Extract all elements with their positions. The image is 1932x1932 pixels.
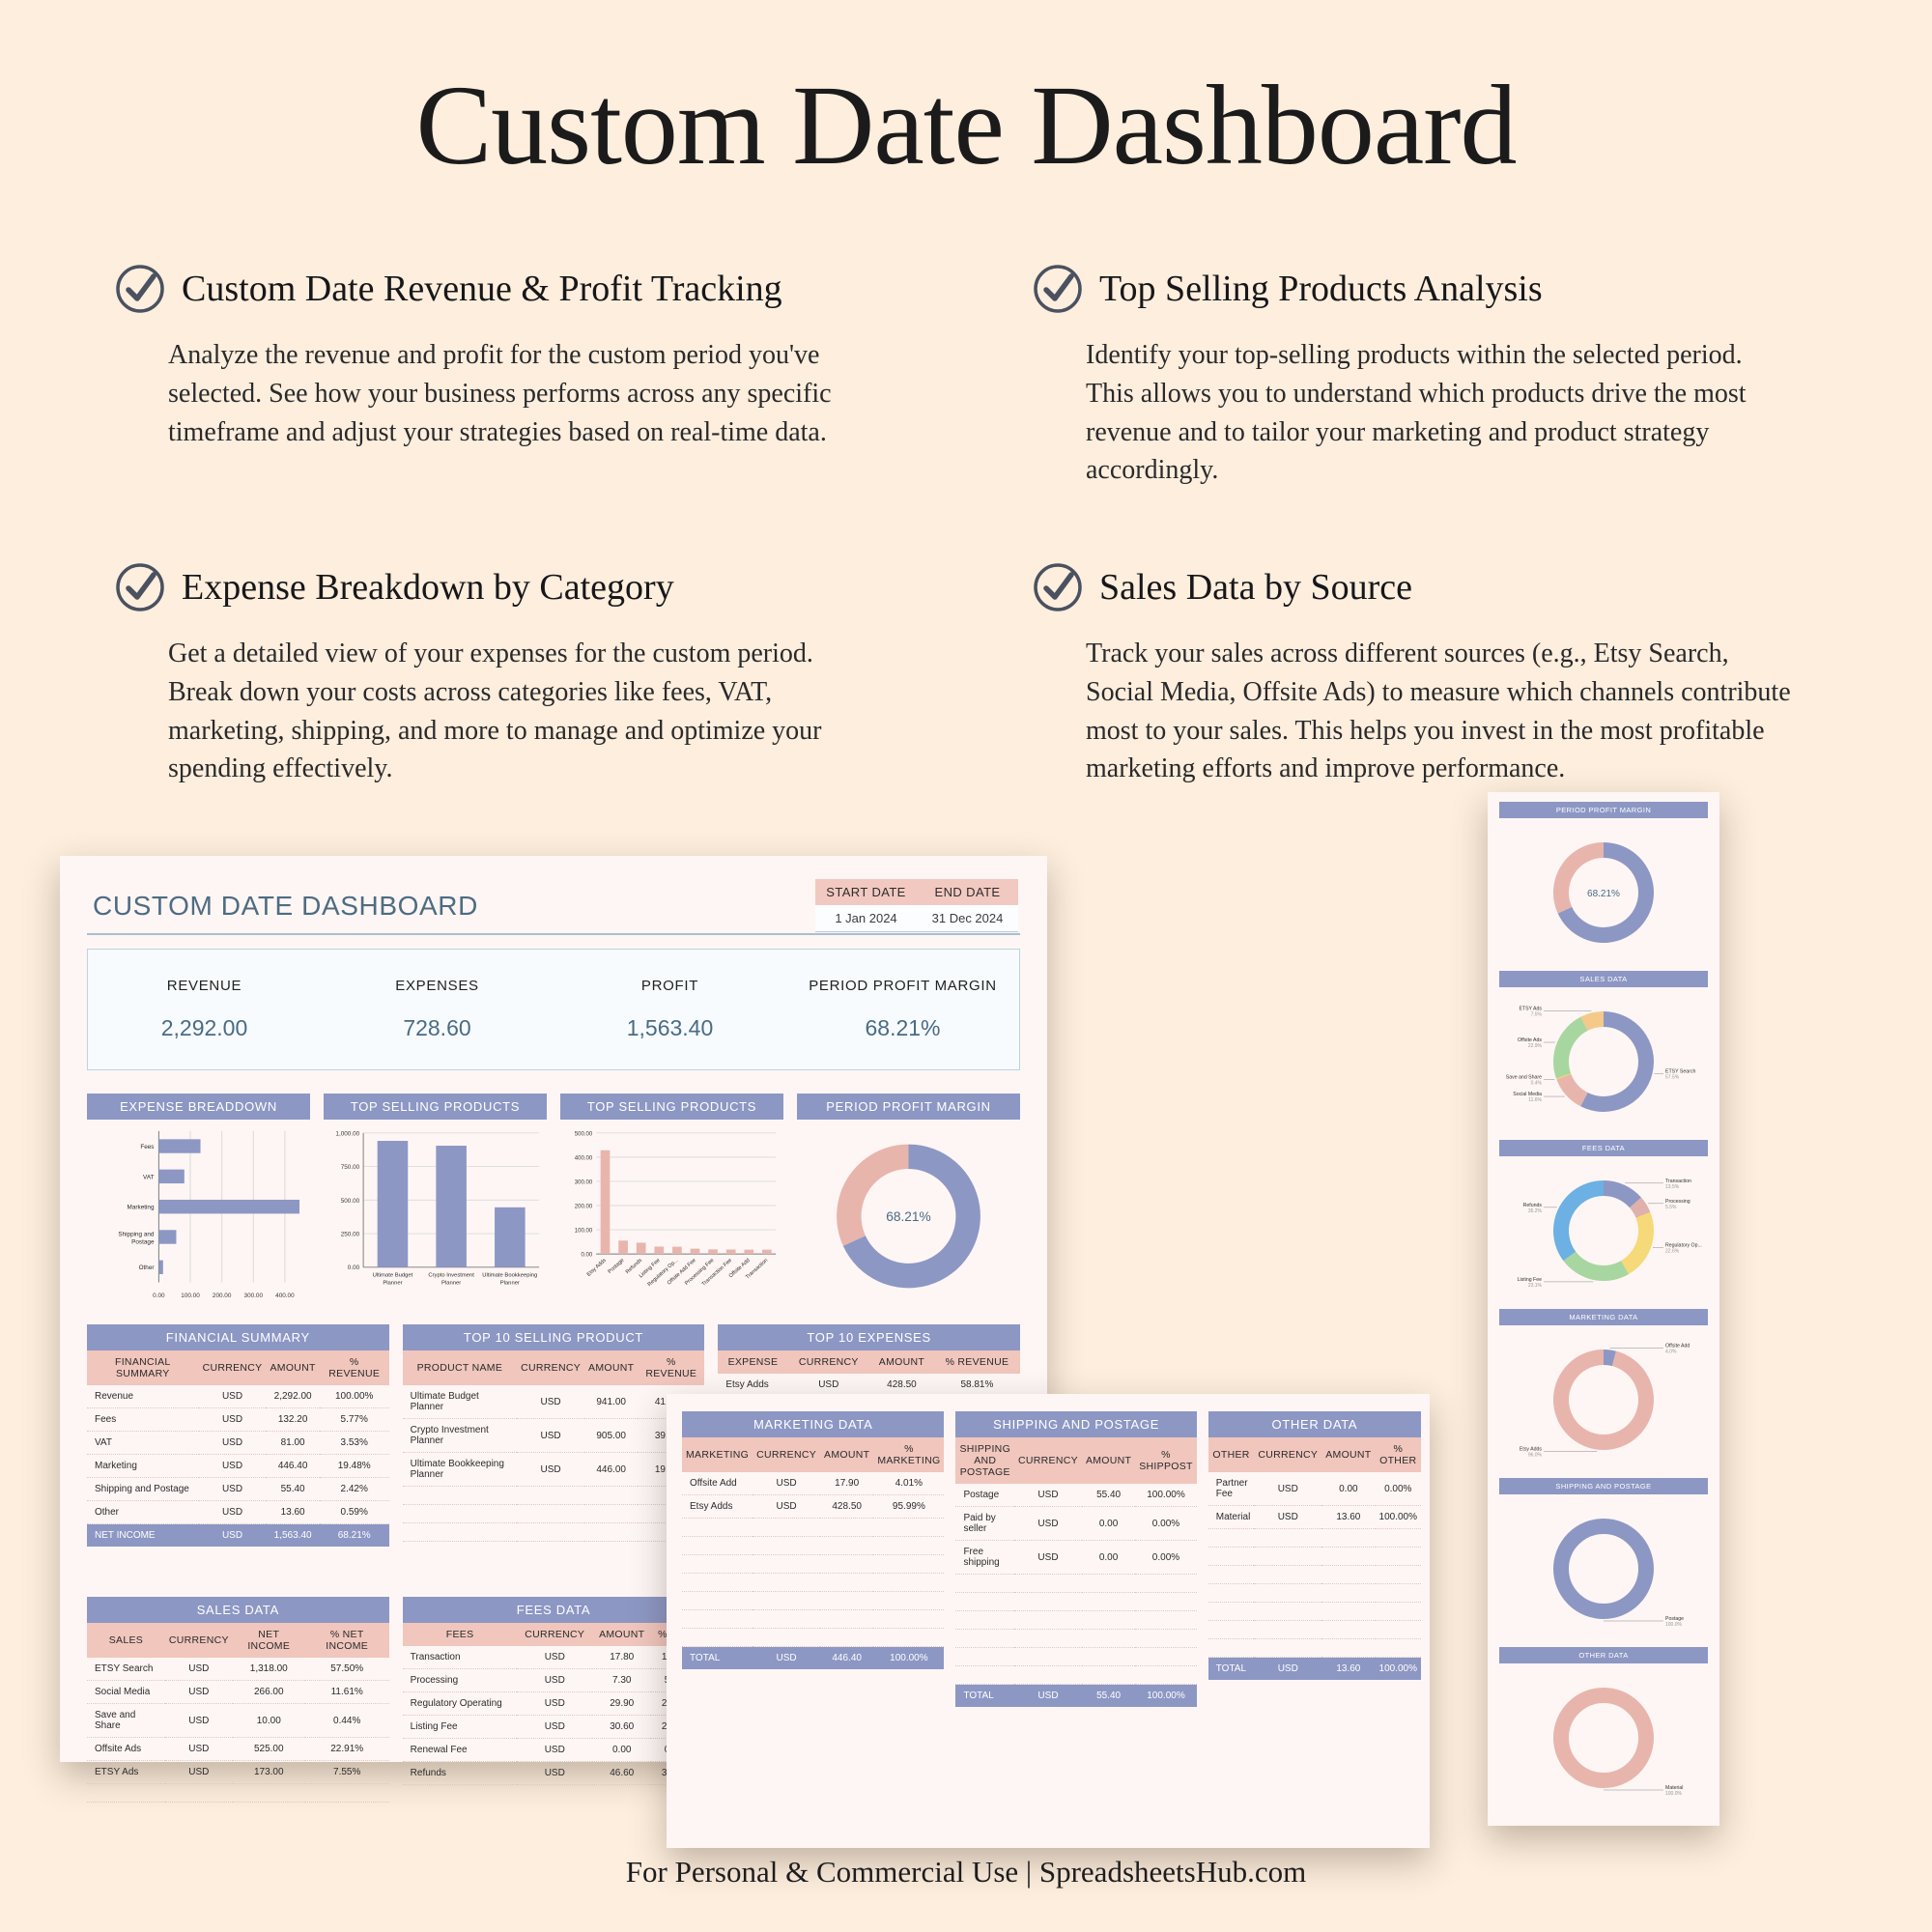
svg-text:5.5%: 5.5% xyxy=(1665,1205,1677,1210)
check-circle-icon xyxy=(1032,561,1084,613)
table-row-empty xyxy=(682,1629,944,1647)
svg-text:Shipping and: Shipping and xyxy=(118,1232,155,1238)
svg-text:500.00: 500.00 xyxy=(575,1131,593,1137)
table-cell xyxy=(820,1555,873,1574)
svg-text:Ultimate Bookkeeping: Ultimate Bookkeeping xyxy=(482,1273,537,1279)
table-row-empty xyxy=(955,1593,1196,1611)
table-cell: Partner Fee xyxy=(1208,1472,1255,1506)
table-cell: TOTAL xyxy=(1208,1658,1255,1681)
column-header: EXPENSE xyxy=(718,1350,787,1374)
table-cell: USD xyxy=(1014,1685,1082,1708)
table-cell: Transaction xyxy=(403,1646,518,1669)
table-cell: 19.48% xyxy=(320,1455,389,1478)
table-cell: 132.20 xyxy=(266,1408,319,1432)
column-header: % SHIPPOST xyxy=(1135,1437,1197,1484)
table-cell: 0.00 xyxy=(1082,1541,1135,1575)
table-cell xyxy=(820,1519,873,1537)
column-header: PRODUCT NAME xyxy=(403,1350,517,1385)
svg-text:96.0%: 96.0% xyxy=(1528,1453,1543,1459)
svg-text:Crypto Investment: Crypto Investment xyxy=(428,1273,474,1279)
table-cell xyxy=(873,1574,944,1592)
table-cell: 55.40 xyxy=(1082,1685,1135,1708)
svg-text:100.00: 100.00 xyxy=(181,1293,200,1299)
feature-heading: Top Selling Products Analysis xyxy=(1032,263,1843,315)
check-circle-icon xyxy=(114,561,166,613)
financial-summary-table: FINANCIAL SUMMARYCURRENCYAMOUNT% REVENUE… xyxy=(87,1350,389,1547)
table-cell: Etsy Adds xyxy=(682,1495,753,1519)
table-title: MARKETING DATA xyxy=(682,1411,944,1437)
table-cell xyxy=(584,1505,638,1523)
top-selling-products-bar-chart: 0.00250.00500.00750.001,000.00Ultimate B… xyxy=(324,1120,547,1309)
feature-heading: Expense Breakdown by Category xyxy=(114,561,925,613)
table-cell: USD xyxy=(517,1739,592,1762)
top-expenses-bar-chart: 0.00100.00200.00300.00400.00500.00Etsy A… xyxy=(560,1120,783,1309)
table-card-shipping-postage: SHIPPING AND POSTAGE SHIPPING AND POSTAG… xyxy=(955,1411,1196,1707)
table-cell: USD xyxy=(199,1478,267,1501)
table-cell xyxy=(1135,1630,1197,1648)
table-cell xyxy=(753,1519,820,1537)
table-cell: 1,318.00 xyxy=(233,1658,305,1681)
table-total-row: TOTALUSD13.60100.00% xyxy=(1208,1658,1421,1681)
table-row-empty xyxy=(955,1666,1196,1685)
table-cell: 525.00 xyxy=(233,1738,305,1761)
column-header: SALES xyxy=(87,1623,165,1658)
table-cell: USD xyxy=(517,1692,592,1716)
svg-text:300.00: 300.00 xyxy=(244,1293,264,1299)
mini-donut-sales-data: ETSY Search57.5%Social Media11.6%Save an… xyxy=(1499,989,1708,1134)
table-cell: USD xyxy=(753,1495,820,1519)
table-cell xyxy=(1014,1630,1082,1648)
table-cell: 446.00 xyxy=(584,1453,638,1487)
svg-text:100.0%: 100.0% xyxy=(1665,1622,1683,1628)
kpi-profit: PROFIT 1,563.40 xyxy=(554,950,786,1069)
table-cell: Material xyxy=(1208,1506,1255,1529)
end-date-value[interactable]: 31 Dec 2024 xyxy=(917,905,1018,932)
svg-text:Fees: Fees xyxy=(140,1144,154,1151)
table-cell: Fees xyxy=(87,1408,199,1432)
table-cell xyxy=(1321,1584,1375,1603)
column-header: CURRENCY xyxy=(788,1350,870,1374)
table-cell: USD xyxy=(165,1704,233,1738)
svg-text:Postage: Postage xyxy=(607,1258,625,1275)
charts-sheet[interactable]: PERIOD PROFIT MARGIN 68.21% SALES DATA E… xyxy=(1488,792,1719,1826)
table-cell: Postage xyxy=(955,1484,1014,1507)
column-header: CURRENCY xyxy=(517,1623,592,1646)
table-cell: Processing xyxy=(403,1669,518,1692)
table-row: MaterialUSD13.60100.00% xyxy=(1208,1506,1421,1529)
table-title: TOP 10 EXPENSES xyxy=(718,1324,1020,1350)
table-row: Etsy AddsUSD428.5095.99% xyxy=(682,1495,944,1519)
table-cell: 266.00 xyxy=(233,1681,305,1704)
table-header-row: OTHERCURRENCYAMOUNT% OTHER xyxy=(1208,1437,1421,1472)
mini-chart-title: OTHER DATA xyxy=(1499,1647,1708,1663)
column-header: OTHER xyxy=(1208,1437,1255,1472)
table-cell: Offsite Add xyxy=(682,1472,753,1495)
feature-item-top-selling: Top Selling Products Analysis Identify y… xyxy=(1032,263,1843,497)
table-cell: 0.44% xyxy=(305,1704,389,1738)
table-card-top10-selling: TOP 10 SELLING PRODUCT PRODUCT NAMECURRE… xyxy=(403,1324,705,1547)
table-cell xyxy=(1376,1603,1421,1621)
column-header: NET INCOME xyxy=(233,1623,305,1658)
table-cell xyxy=(517,1487,584,1505)
mini-donut-period-profit-margin: 68.21% xyxy=(1499,820,1708,965)
table-cell xyxy=(1254,1529,1321,1548)
table-cell: USD xyxy=(1014,1507,1082,1541)
svg-text:100.00: 100.00 xyxy=(575,1228,593,1234)
table-header-row: SALESCURRENCYNET INCOME% NET INCOME xyxy=(87,1623,389,1658)
table-row: Paid by sellerUSD0.000.00% xyxy=(955,1507,1196,1541)
table-cell xyxy=(1135,1648,1197,1666)
table-title: FINANCIAL SUMMARY xyxy=(87,1324,389,1350)
table-cell: 428.50 xyxy=(820,1495,873,1519)
mini-donut-fees-data: Transaction13.5%Processing5.5%Regulatory… xyxy=(1499,1158,1708,1303)
kpi-expenses: EXPENSES 728.60 xyxy=(321,950,554,1069)
table-cell xyxy=(820,1537,873,1555)
table-cell: USD xyxy=(199,1455,267,1478)
table-cell: 0.00 xyxy=(1082,1507,1135,1541)
table-cell: Social Media xyxy=(87,1681,165,1704)
svg-text:0.00: 0.00 xyxy=(348,1264,360,1271)
svg-text:300.00: 300.00 xyxy=(575,1179,593,1185)
check-circle-icon xyxy=(1032,263,1084,315)
column-header: % REVENUE xyxy=(638,1350,704,1385)
feature-title: Custom Date Revenue & Profit Tracking xyxy=(182,268,782,310)
svg-text:4.0%: 4.0% xyxy=(1665,1349,1677,1354)
table-cell xyxy=(517,1505,584,1523)
table-cell: 55.40 xyxy=(1082,1484,1135,1507)
table-cell: USD xyxy=(165,1761,233,1784)
table-cell xyxy=(955,1630,1014,1648)
table-cell: 81.00 xyxy=(266,1432,319,1455)
mini-chart-title: FEES DATA xyxy=(1499,1140,1708,1156)
table-title: OTHER DATA xyxy=(1208,1411,1421,1437)
table-row: Social MediaUSD266.0011.61% xyxy=(87,1681,389,1704)
feature-body: Analyze the revenue and profit for the c… xyxy=(168,336,844,451)
table-row: Listing FeeUSD30.6023.15% xyxy=(403,1716,705,1739)
mini-card-other-data: OTHER DATA Material100.0% xyxy=(1499,1647,1708,1810)
table-cell: Etsy Adds xyxy=(718,1374,787,1397)
table-cell: USD xyxy=(165,1738,233,1761)
table-row: Offsite AdsUSD525.0022.91% xyxy=(87,1738,389,1761)
table-cell: 0.00% xyxy=(1135,1541,1197,1575)
table-cell xyxy=(873,1629,944,1647)
table-cell: Other xyxy=(87,1501,199,1524)
table-cell: USD xyxy=(517,1762,592,1785)
table-cell: USD xyxy=(165,1681,233,1704)
table-cell xyxy=(873,1610,944,1629)
table-cell: USD xyxy=(753,1647,820,1670)
svg-text:22.9%: 22.9% xyxy=(1528,1043,1543,1049)
check-circle-icon xyxy=(114,263,166,315)
table-cell: Crypto Investment Planner xyxy=(403,1419,517,1453)
table-total-row: TOTALUSD446.40100.00% xyxy=(682,1647,944,1670)
table-cell: USD xyxy=(199,1432,267,1455)
footer-text: For Personal & Commercial Use | Spreadsh… xyxy=(0,1855,1932,1889)
table-cell xyxy=(1321,1603,1375,1621)
table-cell xyxy=(1321,1621,1375,1639)
table-cell: Free shipping xyxy=(955,1541,1014,1575)
table-cell xyxy=(584,1523,638,1542)
chart-card-period-profit-margin: PERIOD PROFIT MARGIN 68.21% xyxy=(797,1094,1020,1309)
table-cell: 100.00% xyxy=(1376,1506,1421,1529)
table-total-row: NET INCOMEUSD1,563.4068.21% xyxy=(87,1524,389,1548)
table-row: PostageUSD55.40100.00% xyxy=(955,1484,1196,1507)
column-header: FEES xyxy=(403,1623,518,1646)
table-cell: 0.59% xyxy=(320,1501,389,1524)
detail-table-row: MARKETING DATA MARKETINGCURRENCYAMOUNT% … xyxy=(682,1411,1414,1707)
table-row: RevenueUSD2,292.00100.00% xyxy=(87,1385,389,1408)
svg-text:Planner: Planner xyxy=(383,1280,402,1286)
start-date-label: START DATE xyxy=(815,879,917,905)
mini-chart-title: PERIOD PROFIT MARGIN xyxy=(1499,802,1708,818)
table-cell xyxy=(165,1784,233,1803)
feature-title: Top Selling Products Analysis xyxy=(1099,268,1543,310)
feature-title: Sales Data by Source xyxy=(1099,566,1412,609)
column-header: AMOUNT xyxy=(592,1623,651,1646)
table-cell: 941.00 xyxy=(584,1385,638,1419)
table-cell: 5.77% xyxy=(320,1408,389,1432)
column-header: AMOUNT xyxy=(820,1437,873,1472)
table-cell xyxy=(873,1555,944,1574)
table-card-fees-data: FEES DATA FEESCURRENCYAMOUNT% FEESTransa… xyxy=(403,1597,705,1803)
mini-card-sales-data: SALES DATA ETSY Search57.5%Social Media1… xyxy=(1499,971,1708,1134)
feature-body: Get a detailed view of your expenses for… xyxy=(168,635,844,788)
mini-card-shipping-postage: SHIPPING AND POSTAGE Postage100.0% xyxy=(1499,1478,1708,1641)
svg-text:750.00: 750.00 xyxy=(341,1164,360,1171)
table-cell xyxy=(233,1784,305,1803)
table-cell: 100.00% xyxy=(1135,1685,1197,1708)
table-cell xyxy=(1135,1575,1197,1593)
table-cell: 173.00 xyxy=(233,1761,305,1784)
table-cell: 7.30 xyxy=(592,1669,651,1692)
column-header: % REVENUE xyxy=(320,1350,389,1385)
table-cell: 2,292.00 xyxy=(266,1385,319,1408)
feature-body: Track your sales across different source… xyxy=(1086,635,1791,788)
table-cell xyxy=(1254,1639,1321,1658)
table-card-other-data: OTHER DATA OTHERCURRENCYAMOUNT% OTHERPar… xyxy=(1208,1411,1421,1707)
kpi-value: 2,292.00 xyxy=(161,1015,248,1041)
column-header: SHIPPING AND POSTAGE xyxy=(955,1437,1014,1484)
svg-text:Postage: Postage xyxy=(131,1238,155,1245)
svg-text:11.6%: 11.6% xyxy=(1528,1097,1542,1103)
table-cell: USD xyxy=(199,1408,267,1432)
table-cell xyxy=(1208,1639,1255,1658)
table-row: VATUSD81.003.53% xyxy=(87,1432,389,1455)
table-cell: USD xyxy=(517,1716,592,1739)
table-cell: 55.40 xyxy=(266,1478,319,1501)
table-cell xyxy=(820,1592,873,1610)
table-cell: 95.99% xyxy=(873,1495,944,1519)
table-cell: 0.00% xyxy=(1135,1507,1197,1541)
feature-heading: Sales Data by Source xyxy=(1032,561,1843,613)
table-cell: TOTAL xyxy=(955,1685,1014,1708)
table-cell: TOTAL xyxy=(682,1647,753,1670)
mini-chart-title: SALES DATA xyxy=(1499,971,1708,987)
table-cell xyxy=(1014,1611,1082,1630)
table-cell: Regulatory Operating xyxy=(403,1692,518,1716)
table-cell: 446.40 xyxy=(266,1455,319,1478)
table-cell xyxy=(682,1610,753,1629)
column-header: CURRENCY xyxy=(199,1350,267,1385)
table-row-empty xyxy=(1208,1621,1421,1639)
svg-text:22.6%: 22.6% xyxy=(1665,1249,1680,1255)
table-cell xyxy=(1254,1603,1321,1621)
table-row-empty xyxy=(403,1505,705,1523)
kpi-label: REVENUE xyxy=(167,978,241,994)
svg-text:0.00: 0.00 xyxy=(153,1293,165,1299)
table-cell: USD xyxy=(517,1453,584,1487)
kpi-row: REVENUE 2,292.00 EXPENSES 728.60 PROFIT … xyxy=(87,949,1020,1070)
svg-text:35.2%: 35.2% xyxy=(1528,1208,1543,1214)
table-cell: 17.90 xyxy=(820,1472,873,1495)
table-cell xyxy=(1208,1603,1255,1621)
table-cell xyxy=(753,1610,820,1629)
table-row: Save and ShareUSD10.000.44% xyxy=(87,1704,389,1738)
title-divider xyxy=(87,933,1020,935)
table-cell xyxy=(1321,1529,1375,1548)
column-header: FINANCIAL SUMMARY xyxy=(87,1350,199,1385)
table-cell xyxy=(403,1523,517,1542)
table-cell xyxy=(1254,1621,1321,1639)
table-row-empty xyxy=(955,1630,1196,1648)
table-cell: USD xyxy=(753,1472,820,1495)
table-title: SHIPPING AND POSTAGE xyxy=(955,1411,1196,1437)
table-row-empty xyxy=(403,1487,705,1505)
table-cell: USD xyxy=(1254,1472,1321,1506)
svg-text:Marketing: Marketing xyxy=(128,1205,155,1211)
table-row: ETSY SearchUSD1,318.0057.50% xyxy=(87,1658,389,1681)
table-cell xyxy=(682,1574,753,1592)
table-cell: Paid by seller xyxy=(955,1507,1014,1541)
table-cell xyxy=(955,1648,1014,1666)
table-cell xyxy=(955,1666,1014,1685)
table-cell: Listing Fee xyxy=(403,1716,518,1739)
mini-donut-shipping-postage: Postage100.0% xyxy=(1499,1496,1708,1641)
kpi-label: PROFIT xyxy=(641,978,698,994)
table-cell xyxy=(1135,1593,1197,1611)
feature-list: Custom Date Revenue & Profit Tracking An… xyxy=(114,263,1843,796)
svg-text:0.4%: 0.4% xyxy=(1531,1081,1543,1087)
end-date-label: END DATE xyxy=(917,879,1018,905)
mini-card-fees-data: FEES DATA Transaction13.5%Processing5.5%… xyxy=(1499,1140,1708,1303)
table-cell xyxy=(1208,1529,1255,1548)
table-cell xyxy=(753,1629,820,1647)
column-header: CURRENCY xyxy=(1254,1437,1321,1472)
end-date-cell[interactable]: END DATE 31 Dec 2024 xyxy=(917,879,1018,932)
table-row-empty xyxy=(955,1575,1196,1593)
table-cell xyxy=(873,1537,944,1555)
svg-text:Planner: Planner xyxy=(441,1280,461,1286)
sales-data-table: SALESCURRENCYNET INCOME% NET INCOMEETSY … xyxy=(87,1623,389,1803)
table-cell xyxy=(87,1784,165,1803)
chart-title: EXPENSE BREADDOWN xyxy=(87,1094,310,1120)
table-cell: 68.21% xyxy=(320,1524,389,1548)
kpi-value: 728.60 xyxy=(403,1015,470,1041)
table-cell xyxy=(820,1629,873,1647)
table-cell: USD xyxy=(517,1669,592,1692)
feature-item-revenue-tracking: Custom Date Revenue & Profit Tracking An… xyxy=(114,263,925,497)
column-header: % MARKETING xyxy=(873,1437,944,1472)
table-cell: ETSY Ads xyxy=(87,1761,165,1784)
table-cell: USD xyxy=(1254,1658,1321,1681)
table-cell: 13.60 xyxy=(266,1501,319,1524)
table-row: ProcessingUSD7.305.52% xyxy=(403,1669,705,1692)
table-cell xyxy=(1014,1648,1082,1666)
table-cell: 0.00 xyxy=(592,1739,651,1762)
svg-text:Ultimate Budget: Ultimate Budget xyxy=(373,1273,413,1279)
svg-text:68.21%: 68.21% xyxy=(1587,889,1620,899)
table-cell xyxy=(1321,1548,1375,1566)
table-cell xyxy=(403,1487,517,1505)
column-header: AMOUNT xyxy=(869,1350,934,1374)
table-cell xyxy=(682,1555,753,1574)
svg-text:7.5%: 7.5% xyxy=(1531,1011,1543,1017)
svg-text:500.00: 500.00 xyxy=(341,1198,360,1205)
table-row-empty xyxy=(682,1555,944,1574)
date-range-control[interactable]: START DATE 1 Jan 2024 END DATE 31 Dec 20… xyxy=(815,879,1018,932)
table-cell xyxy=(955,1593,1014,1611)
table-card-marketing-data: MARKETING DATA MARKETINGCURRENCYAMOUNT% … xyxy=(682,1411,944,1707)
table-cell xyxy=(820,1610,873,1629)
table-cell xyxy=(1208,1566,1255,1584)
table-cell: 100.00% xyxy=(1376,1658,1421,1681)
table-cell: 0.00% xyxy=(1376,1472,1421,1506)
table-row: Renewal FeeUSD0.000.00% xyxy=(403,1739,705,1762)
table-row-empty xyxy=(682,1610,944,1629)
start-date-value[interactable]: 1 Jan 2024 xyxy=(815,905,917,932)
start-date-cell[interactable]: START DATE 1 Jan 2024 xyxy=(815,879,917,932)
table-cell xyxy=(1376,1584,1421,1603)
table-cell xyxy=(820,1574,873,1592)
svg-text:VAT: VAT xyxy=(143,1174,155,1180)
table-cell: 4.01% xyxy=(873,1472,944,1495)
table-card-sales-data: SALES DATA SALESCURRENCYNET INCOME% NET … xyxy=(87,1597,389,1803)
chart-card-top-selling-products: TOP SELLING PRODUCTS 0.00250.00500.00750… xyxy=(324,1094,547,1309)
table-cell: Ultimate Budget Planner xyxy=(403,1385,517,1419)
svg-text:200.00: 200.00 xyxy=(213,1293,232,1299)
column-header: AMOUNT xyxy=(584,1350,638,1385)
column-header: CURRENCY xyxy=(753,1437,820,1472)
detail-sheet[interactable]: MARKETING DATA MARKETINGCURRENCYAMOUNT% … xyxy=(667,1394,1430,1848)
mini-card-period-profit-margin: PERIOD PROFIT MARGIN 68.21% xyxy=(1499,802,1708,965)
column-header: % OTHER xyxy=(1376,1437,1421,1472)
table-row: MarketingUSD446.4019.48% xyxy=(87,1455,389,1478)
table-row-empty xyxy=(87,1784,389,1803)
table-cell xyxy=(1135,1611,1197,1630)
kpi-label: PERIOD PROFIT MARGIN xyxy=(809,978,997,994)
table-cell: 30.60 xyxy=(592,1716,651,1739)
table-cell: USD xyxy=(517,1646,592,1669)
table-cell xyxy=(1376,1548,1421,1566)
table-cell: USD xyxy=(788,1374,870,1397)
table-row-empty xyxy=(955,1611,1196,1630)
table-cell xyxy=(1321,1566,1375,1584)
table-cell xyxy=(1208,1584,1255,1603)
table-row: RefundsUSD46.6035.25% xyxy=(403,1762,705,1785)
table-cell xyxy=(1014,1593,1082,1611)
kpi-value: 1,563.40 xyxy=(627,1015,714,1041)
table-cell: 0.00 xyxy=(1321,1472,1375,1506)
table-cell xyxy=(1014,1575,1082,1593)
table-cell: USD xyxy=(1014,1484,1082,1507)
period-profit-margin-donut: 68.21% xyxy=(797,1120,1020,1309)
table-cell xyxy=(1376,1621,1421,1639)
table-cell xyxy=(682,1592,753,1610)
svg-text:57.5%: 57.5% xyxy=(1665,1075,1680,1081)
page-title: Custom Date Dashboard xyxy=(0,0,1932,191)
svg-text:400.00: 400.00 xyxy=(575,1155,593,1161)
table-cell: Ultimate Bookkeeping Planner xyxy=(403,1453,517,1487)
